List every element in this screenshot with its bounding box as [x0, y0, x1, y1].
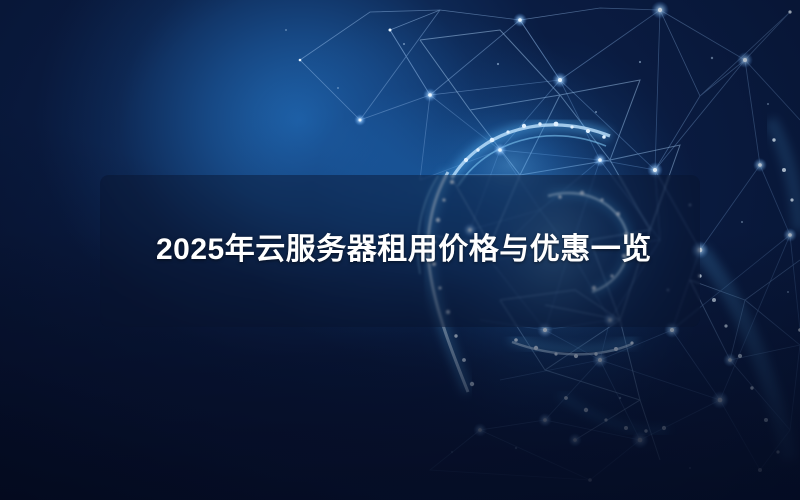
banner-title: 2025年云服务器租用价格与优惠一览 [156, 228, 676, 272]
banner-image: 2025年云服务器租用价格与优惠一览 [0, 0, 800, 500]
